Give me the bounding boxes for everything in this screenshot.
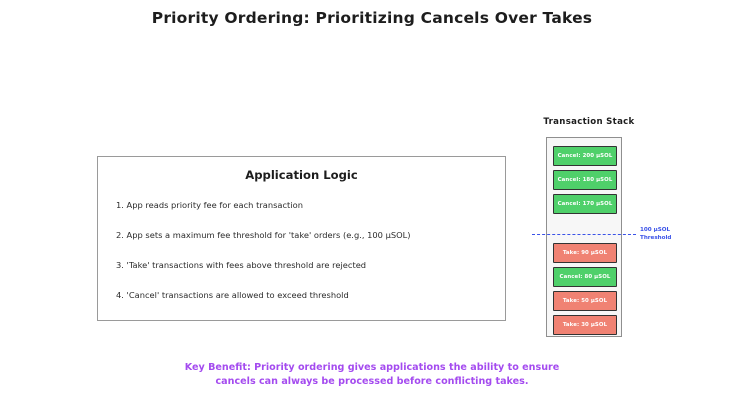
- transaction-box: Cancel: 80 µSOL: [553, 267, 617, 287]
- transaction-box: Cancel: 170 µSOL: [553, 194, 617, 214]
- threshold-value: 100 µSOL: [640, 227, 670, 233]
- transaction-stack-container: Cancel: 200 µSOL Cancel: 180 µSOL Cancel…: [546, 137, 622, 337]
- threshold-dashed-line: [532, 234, 636, 235]
- transaction-box: Take: 30 µSOL: [553, 315, 617, 335]
- threshold-label: 100 µSOL Threshold: [640, 226, 700, 242]
- logic-step-3: 3. 'Take' transactions with fees above t…: [98, 260, 505, 290]
- application-logic-title: Application Logic: [98, 168, 505, 182]
- threshold-caption: Threshold: [640, 235, 671, 241]
- application-logic-list: 1. App reads priority fee for each trans…: [98, 200, 505, 320]
- logic-step-2: 2. App sets a maximum fee threshold for …: [98, 230, 505, 260]
- page-title: Priority Ordering: Prioritizing Cancels …: [0, 9, 744, 27]
- transaction-box: Take: 50 µSOL: [553, 291, 617, 311]
- key-benefit-line-1: Key Benefit: Priority ordering gives app…: [0, 361, 744, 375]
- transaction-box: Cancel: 180 µSOL: [553, 170, 617, 190]
- key-benefit-caption: Key Benefit: Priority ordering gives app…: [0, 361, 744, 388]
- transaction-box: Cancel: 200 µSOL: [553, 146, 617, 166]
- transaction-box: Take: 90 µSOL: [553, 243, 617, 263]
- application-logic-panel: Application Logic 1. App reads priority …: [97, 156, 506, 321]
- key-benefit-line-2: cancels can always be processed before c…: [0, 375, 744, 389]
- logic-step-1: 1. App reads priority fee for each trans…: [98, 200, 505, 230]
- transaction-stack-heading: Transaction Stack: [519, 117, 659, 127]
- logic-step-4: 4. 'Cancel' transactions are allowed to …: [98, 290, 505, 320]
